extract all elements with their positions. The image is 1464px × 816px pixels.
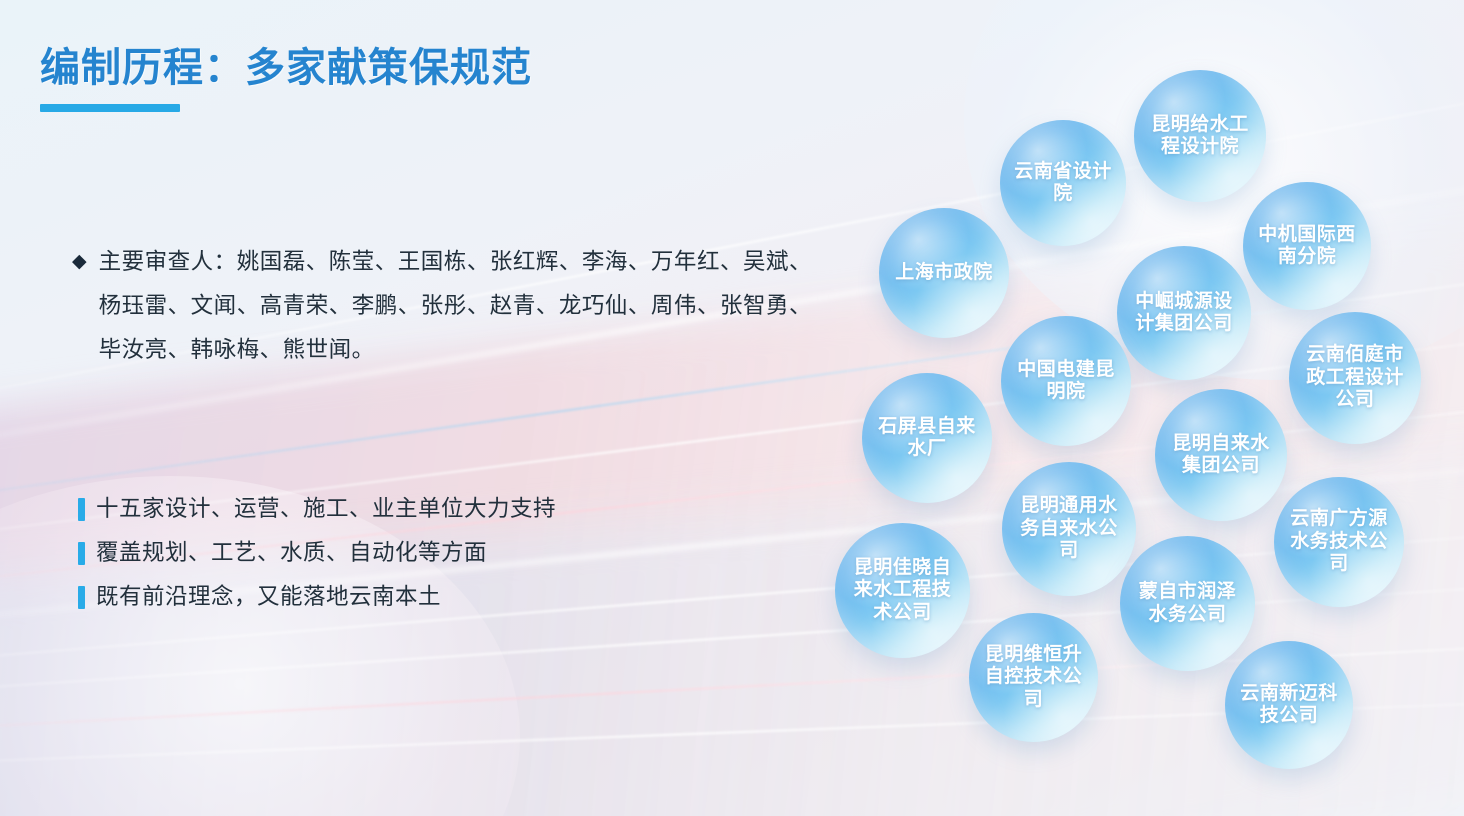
organization-bubble[interactable]: 中崛城源设计集团公司 — [1117, 246, 1251, 380]
organization-bubble-label: 中国电建昆明院 — [1001, 359, 1131, 404]
organization-bubble-label: 石屏县自来水厂 — [862, 416, 992, 461]
organization-bubble[interactable]: 昆明佳晓自来水工程技术公司 — [835, 523, 970, 658]
organization-bubble[interactable]: 云南佰庭市政工程设计公司 — [1289, 312, 1421, 444]
organization-bubble[interactable]: 昆明维恒升自控技术公司 — [969, 613, 1098, 742]
organization-bubble-label: 云南佰庭市政工程设计公司 — [1289, 344, 1421, 411]
slide-canvas: 编制历程：多家献策保规范 ◆ 主要审查人：姚国磊、陈莹、王国栋、张红辉、李海、万… — [0, 0, 1464, 816]
organization-bubble-label: 上海市政院 — [885, 262, 1003, 284]
organization-bubble[interactable]: 云南广方源水务技术公司 — [1274, 477, 1404, 607]
organization-bubble[interactable]: 云南新迈科技公司 — [1225, 641, 1353, 769]
organization-bubble[interactable]: 中机国际西南分院 — [1243, 182, 1371, 310]
organization-bubble-label: 昆明通用水务自来水公司 — [1002, 495, 1136, 562]
organization-bubble-label: 昆明自来水集团公司 — [1155, 433, 1287, 478]
organization-bubble-label: 中机国际西南分院 — [1243, 224, 1371, 269]
organization-bubble[interactable]: 中国电建昆明院 — [1001, 316, 1131, 446]
organization-bubble-label: 云南广方源水务技术公司 — [1274, 508, 1404, 575]
organization-bubble-label: 中崛城源设计集团公司 — [1117, 291, 1251, 336]
organization-bubble-label: 昆明佳晓自来水工程技术公司 — [835, 557, 970, 624]
organization-bubble-label: 蒙自市润泽水务公司 — [1120, 581, 1255, 626]
organization-bubble[interactable]: 昆明给水工程设计院 — [1134, 70, 1266, 202]
organization-bubble[interactable]: 昆明自来水集团公司 — [1155, 389, 1287, 521]
organization-bubble-label: 昆明给水工程设计院 — [1134, 114, 1266, 159]
organization-bubble[interactable]: 上海市政院 — [879, 208, 1009, 338]
organization-bubble[interactable]: 昆明通用水务自来水公司 — [1002, 462, 1136, 596]
organization-bubble-cluster: 昆明给水工程设计院云南省设计院中机国际西南分院上海市政院中崛城源设计集团公司中国… — [0, 0, 1464, 816]
organization-bubble-label: 云南省设计院 — [1000, 161, 1126, 206]
organization-bubble[interactable]: 云南省设计院 — [1000, 120, 1126, 246]
organization-bubble-label: 昆明维恒升自控技术公司 — [969, 644, 1098, 711]
organization-bubble[interactable]: 蒙自市润泽水务公司 — [1120, 536, 1255, 671]
organization-bubble-label: 云南新迈科技公司 — [1225, 683, 1353, 728]
organization-bubble[interactable]: 石屏县自来水厂 — [862, 373, 992, 503]
